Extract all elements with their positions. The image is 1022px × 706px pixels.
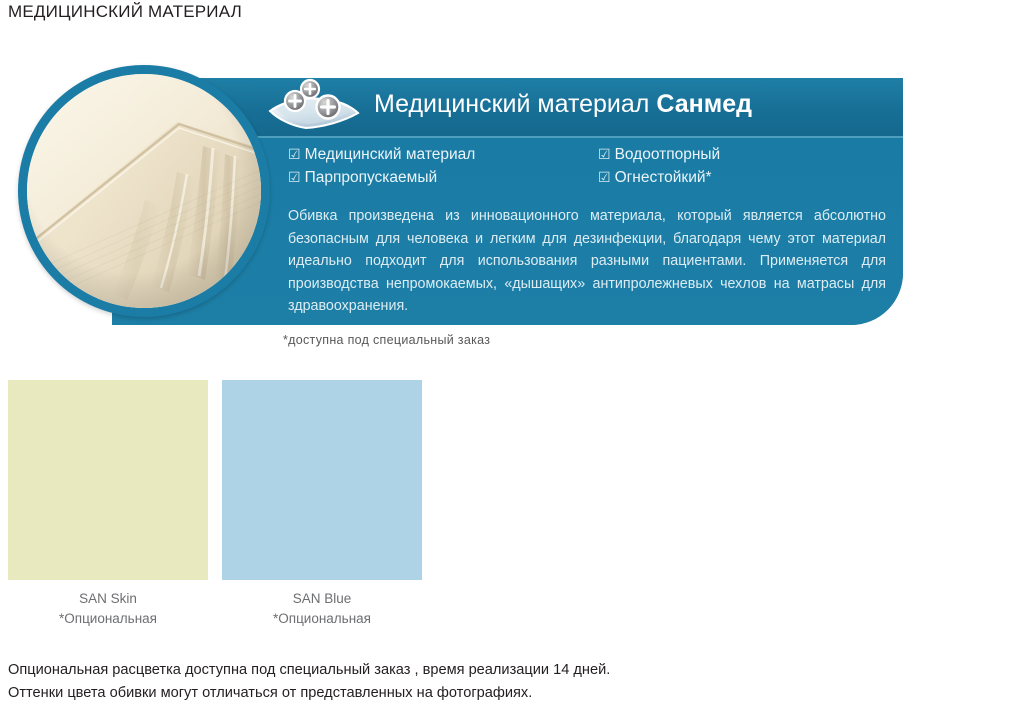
page-title: МЕДИЦИНСКИЙ МАТЕРИАЛ xyxy=(8,2,242,22)
feature-label: Медицинский материал xyxy=(305,146,476,163)
fabric-photo-circle xyxy=(18,65,270,317)
swatch-chip-san-skin[interactable] xyxy=(8,380,208,580)
feature-label: Парпропускаемый xyxy=(305,169,438,186)
bottom-note-line-2: Оттенки цвета обивки могут отличаться от… xyxy=(8,682,610,705)
swatch-name: SAN Blue xyxy=(222,589,422,609)
feature-item-vapour-permeable: ☑Парпропускаемый xyxy=(288,169,598,187)
swatch-caption: SAN Skin *Опциональная xyxy=(8,589,208,629)
feature-label: Огнестойкий* xyxy=(615,169,712,186)
feature-label: Водоотпорный xyxy=(615,146,721,163)
checkbox-checked-icon: ☑ xyxy=(288,146,301,162)
banner-title-brand: Санмед xyxy=(656,90,752,118)
medical-sheet-plus-logo-icon xyxy=(262,78,366,136)
checkbox-checked-icon: ☑ xyxy=(598,169,611,185)
feature-item-waterproof: ☑Водоотпорный xyxy=(598,146,720,164)
swatch-option-note: *Опциональная xyxy=(8,609,208,629)
banner-title-main: Медицинский материал xyxy=(374,90,656,118)
swatch-name: SAN Skin xyxy=(8,589,208,609)
swatch-item-san-skin[interactable]: SAN Skin *Опциональная xyxy=(8,380,208,629)
swatch-caption: SAN Blue *Опциональная xyxy=(222,589,422,629)
swatch-option-note: *Опциональная xyxy=(222,609,422,629)
checkbox-checked-icon: ☑ xyxy=(598,146,611,162)
bottom-notes: Опциональная расцветка доступна под спец… xyxy=(8,659,610,705)
feature-row: ☑Медицинский материал ☑Водоотпорный xyxy=(288,146,888,164)
special-order-footnote: *доступна под специальный заказ xyxy=(283,333,490,347)
banner-description: Обивка произведена из инновационного мат… xyxy=(288,205,886,318)
medical-fabric-closeup-image xyxy=(27,74,261,308)
feature-item-medical-material: ☑Медицинский материал xyxy=(288,146,598,164)
feature-item-fire-resistant: ☑Огнестойкий* xyxy=(598,169,712,187)
bottom-note-line-1: Опциональная расцветка доступна под спец… xyxy=(8,659,610,682)
feature-list: ☑Медицинский материал ☑Водоотпорный ☑Пар… xyxy=(288,146,888,192)
feature-row: ☑Парпропускаемый ☑Огнестойкий* xyxy=(288,169,888,187)
swatch-chip-san-blue[interactable] xyxy=(222,380,422,580)
banner-title: Медицинский материал Санмед xyxy=(374,90,752,119)
swatch-item-san-blue[interactable]: SAN Blue *Опциональная xyxy=(222,380,422,629)
checkbox-checked-icon: ☑ xyxy=(288,169,301,185)
